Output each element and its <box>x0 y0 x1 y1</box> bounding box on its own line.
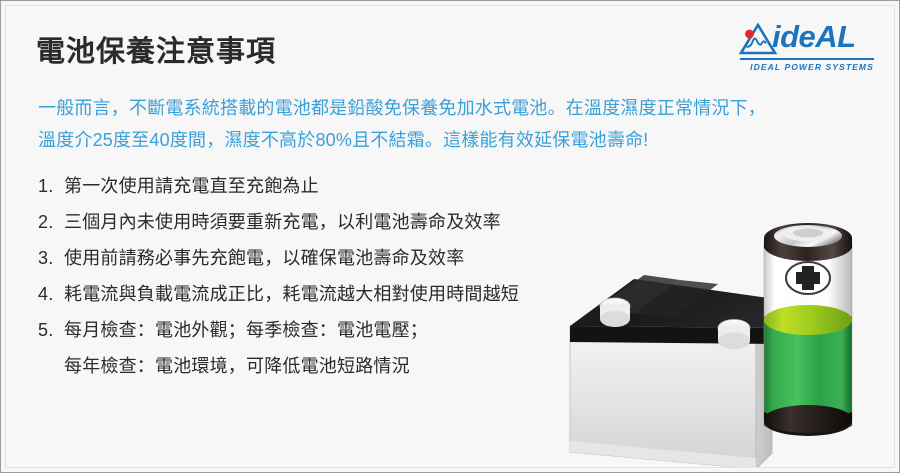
list-item-text: 第一次使用請充電直至充飽為止 <box>64 168 583 204</box>
list-item-text: 每月檢查：電池外觀；每季檢查：電池電壓； <box>64 312 583 348</box>
logo-tagline: IDEAL POWER SYSTEMS <box>744 62 880 72</box>
list-item: 1. 第一次使用請充電直至充飽為止 <box>38 168 583 204</box>
logo-lockup: ideAL <box>732 20 880 58</box>
list-item-number: 5. <box>38 312 64 348</box>
list-item: 2. 三個月內未使用時須要重新充電，以利電池壽命及效率 <box>38 204 583 240</box>
list-item: 4. 耗電流與負載電流成正比，耗電流越大相對使用時間越短 <box>38 276 583 312</box>
list-item-number: 1. <box>38 168 64 204</box>
page-title: 電池保養注意事項 <box>36 32 276 72</box>
logo-wordmark: ideAL <box>772 19 856 55</box>
list-item-text: 三個月內未使用時須要重新充電，以利電池壽命及效率 <box>64 204 583 240</box>
list-item-text: 使用前請務必事先充飽電，以確保電池壽命及效率 <box>64 240 583 276</box>
battery-illustration-svg <box>558 216 895 468</box>
list-item-number: 2. <box>38 204 64 240</box>
logo-underline-rule <box>740 58 874 60</box>
infographic-canvas: ideAL IDEAL POWER SYSTEMS 電池保養注意事項 一般而言，… <box>0 0 900 473</box>
infographic-inner-frame: ideAL IDEAL POWER SYSTEMS 電池保養注意事項 一般而言，… <box>5 5 895 468</box>
car-battery-illustration <box>570 275 790 468</box>
list-item-text: 耗電流與負載電流成正比，耗電流越大相對使用時間越短 <box>64 276 583 312</box>
battery-illustration-group <box>558 216 895 468</box>
intro-paragraph: 一般而言，不斷電系統搭載的電池都是鉛酸免保養免加水式電池。在溫度濕度正常情況下，… <box>38 92 878 156</box>
list-item-number: 3. <box>38 240 64 276</box>
intro-line-1: 一般而言，不斷電系統搭載的電池都是鉛酸免保養免加水式電池。在溫度濕度正常情況下， <box>38 92 878 124</box>
cylindrical-battery-illustration <box>764 223 852 436</box>
list-item: 3. 使用前請務必事先充飽電，以確保電池壽命及效率 <box>38 240 583 276</box>
list-item-continuation: 每年檢查：電池環境，可降低電池短路情況 <box>38 348 583 384</box>
maintenance-tips-list: 1. 第一次使用請充電直至充飽為止 2. 三個月內未使用時須要重新充電，以利電池… <box>38 168 583 384</box>
intro-line-2: 溫度介25度至40度間，濕度不高於80%且不結霜。這樣能有效延保電池壽命! <box>38 124 878 156</box>
brand-logo[interactable]: ideAL IDEAL POWER SYSTEMS <box>732 20 880 76</box>
list-item: 5. 每月檢查：電池外觀；每季檢查：電池電壓； <box>38 312 583 348</box>
list-item-number: 4. <box>38 276 64 312</box>
